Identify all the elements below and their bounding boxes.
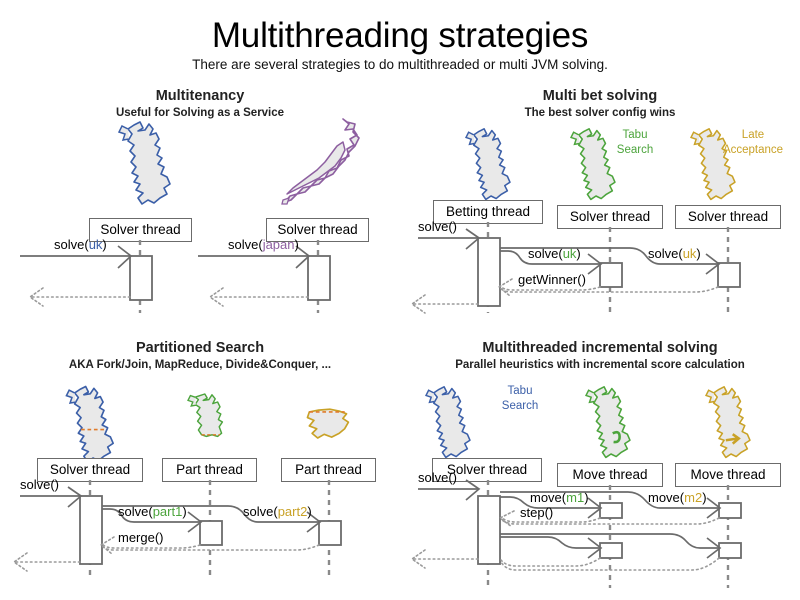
activation-solver-1 [600, 263, 622, 287]
quadrant-multithreaded-incremental: Multithreaded incremental solving Parall… [400, 340, 800, 595]
message-label-solve-uk: solve(uk) [54, 237, 107, 252]
call-arrow-1 [118, 246, 131, 268]
message-label-solve-uk-gold: solve(uk) [648, 246, 701, 261]
return-arrow-getwinner [499, 279, 512, 296]
message-label-solve: solve() [20, 477, 59, 492]
message-label-solve: solve() [418, 219, 457, 234]
message-label-solve-japan: solve(japan) [228, 237, 299, 252]
activation-1 [130, 256, 152, 300]
sequence-diagram-partitioned-search: solve() solve(part1) solve(part2) merge(… [0, 340, 400, 595]
return-label-getwinner: getWinner() [518, 272, 586, 287]
sequence-diagram-multi-bet: solve() solve(uk) solve(uk) getWinner() [400, 88, 800, 343]
slide-root: Multithreading strategies There are seve… [0, 0, 800, 600]
activation-2 [308, 256, 330, 300]
call-arrow-solve [466, 480, 479, 500]
message-label-move-m2: move(m2) [648, 490, 707, 505]
activation-part-1 [200, 521, 222, 545]
activation-move-1-b [600, 543, 622, 558]
call-line-move-round2-a [500, 537, 600, 548]
activation-move-1-a [600, 503, 622, 518]
call-arrow-solve [68, 487, 81, 507]
activation-move-2-a [719, 503, 741, 518]
sequence-diagram-multitenancy: solve(uk) solve(japan) [0, 88, 400, 343]
return-line-round2-1 [501, 558, 600, 566]
sequence-diagram-incremental: solve() move(m1) move(m2) step() [400, 340, 800, 595]
call-arrow-solve [466, 229, 479, 249]
page-title: Multithreading strategies [0, 16, 800, 56]
activation-solver [80, 496, 102, 564]
page-subtitle: There are several strategies to do multi… [0, 56, 800, 73]
message-label-solve: solve() [418, 470, 457, 485]
activation-betting [478, 238, 500, 306]
return-arrow-step [500, 511, 514, 527]
activation-move-2-b [719, 543, 741, 558]
return-label-merge: merge() [118, 530, 164, 545]
quadrant-partitioned-search: Partitioned Search AKA Fork/Join, MapRed… [0, 340, 400, 595]
quadrant-multi-bet-solving: Multi bet solving The best solver config… [400, 88, 800, 343]
message-label-solve-part2: solve(part2) [243, 504, 312, 519]
return-label-step: step() [520, 505, 553, 520]
activation-solver-2 [718, 263, 740, 287]
activation-solver [478, 496, 500, 564]
activation-part-2 [319, 521, 341, 545]
quadrant-multitenancy: Multitenancy Useful for Solving as a Ser… [0, 88, 400, 343]
